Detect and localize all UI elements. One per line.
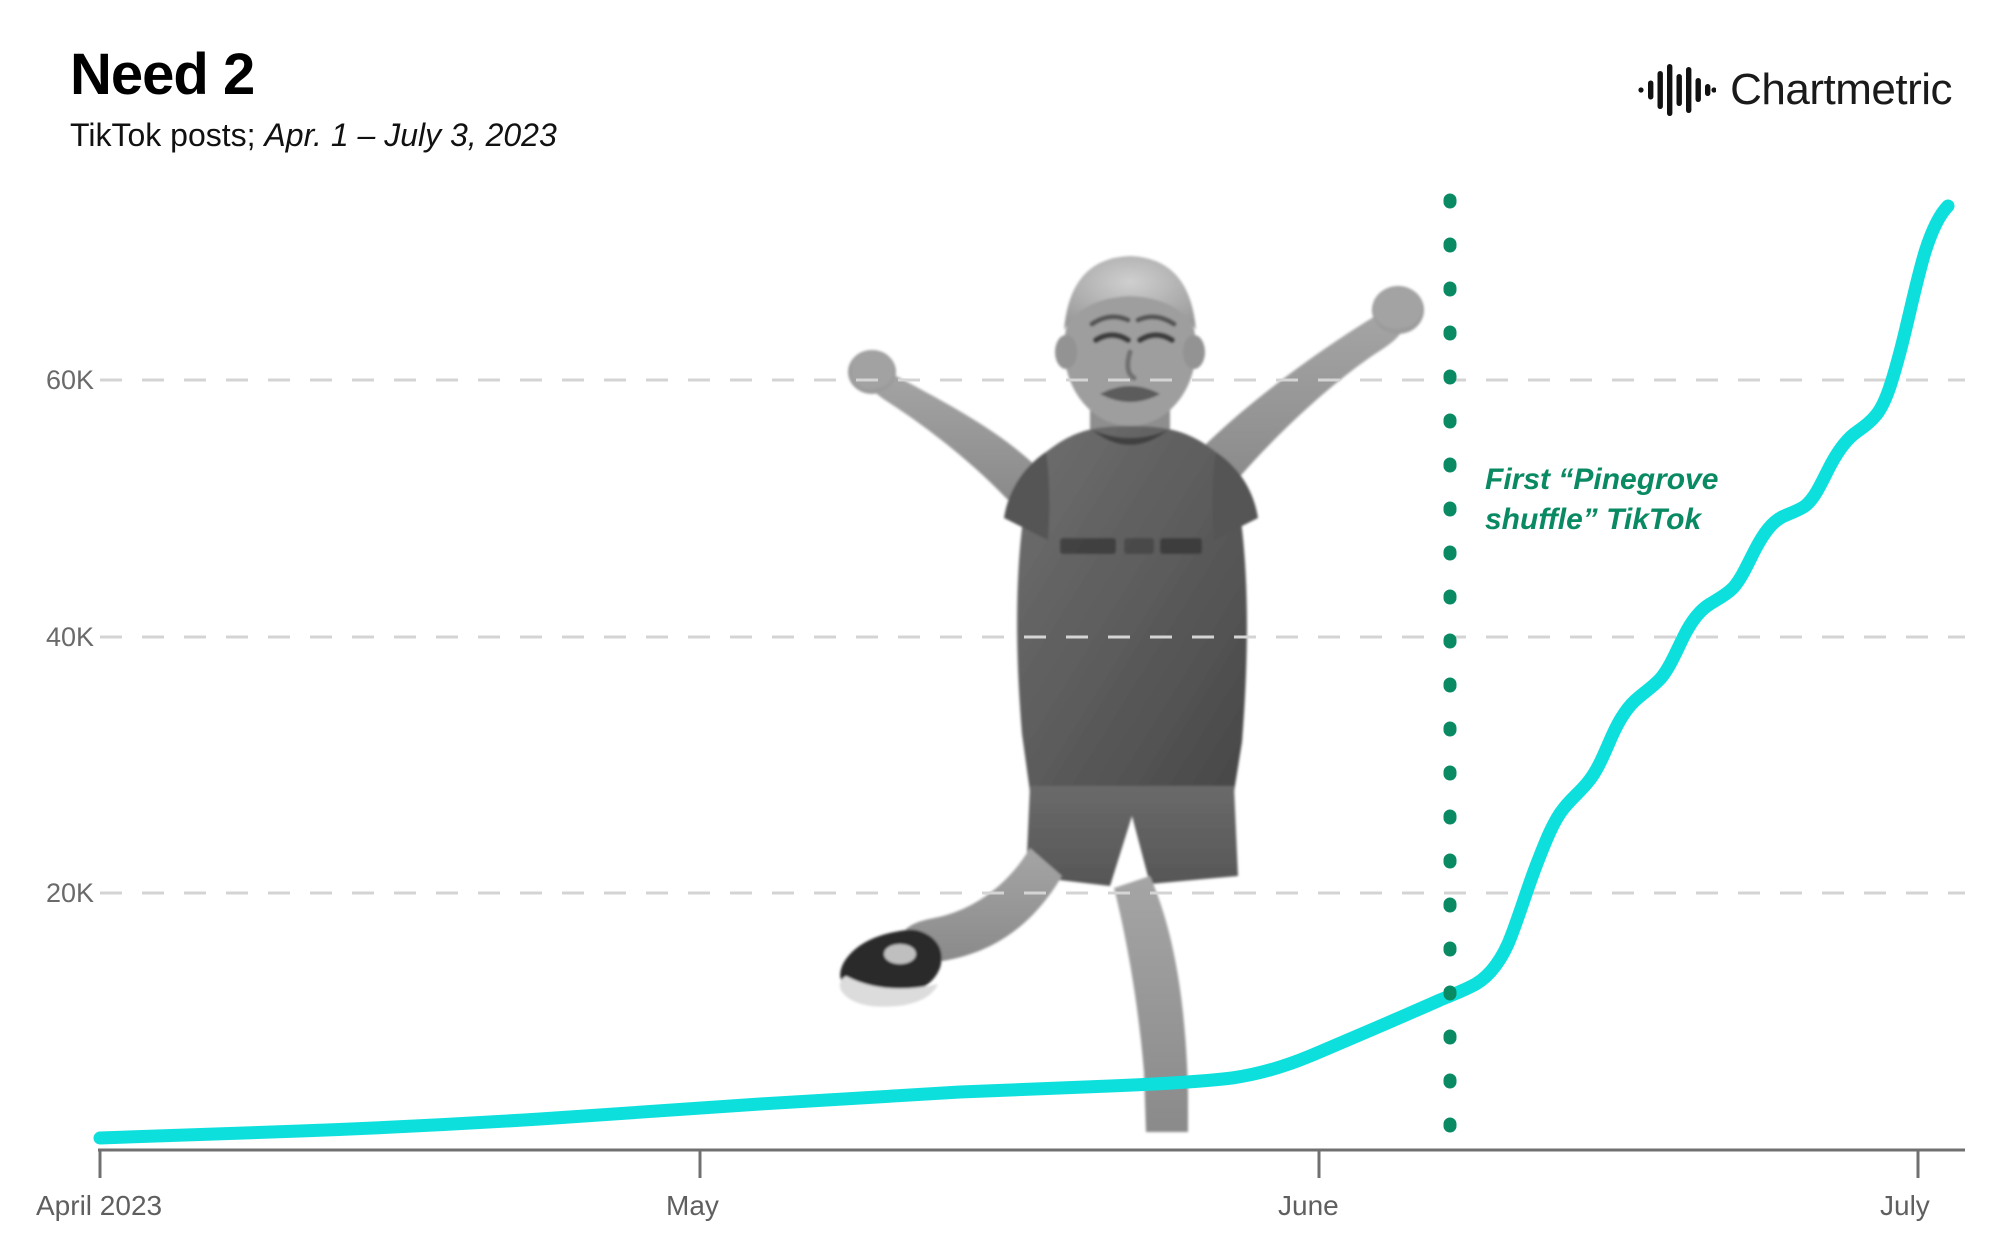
annotation-first-pinegrove-shuffle: First “Pinegrove shuffle” TikTok [1485,460,1765,539]
series-line-tiktok-posts [100,206,1948,1138]
y-tick-40k: 40K [2,624,94,651]
annotation-line-1: First “Pinegrove [1485,460,1765,500]
x-tick-may: May [666,1192,719,1220]
y-tick-60k: 60K [2,367,94,394]
x-tick-june: June [1278,1192,1339,1220]
x-tick-july: July [1880,1192,1930,1220]
plot-area: 60K 40K 20K April 2023 May June July Fir… [0,0,2000,1250]
x-tick-april-2023: April 2023 [36,1192,162,1220]
x-axis-ticks [100,1150,1918,1178]
chart-graphics [0,0,2000,1250]
chart-canvas: Need 2 TikTok posts; Apr. 1 – July 3, 20… [0,0,2000,1250]
annotation-line-2: shuffle” TikTok [1485,500,1765,540]
y-tick-20k: 20K [2,880,94,907]
